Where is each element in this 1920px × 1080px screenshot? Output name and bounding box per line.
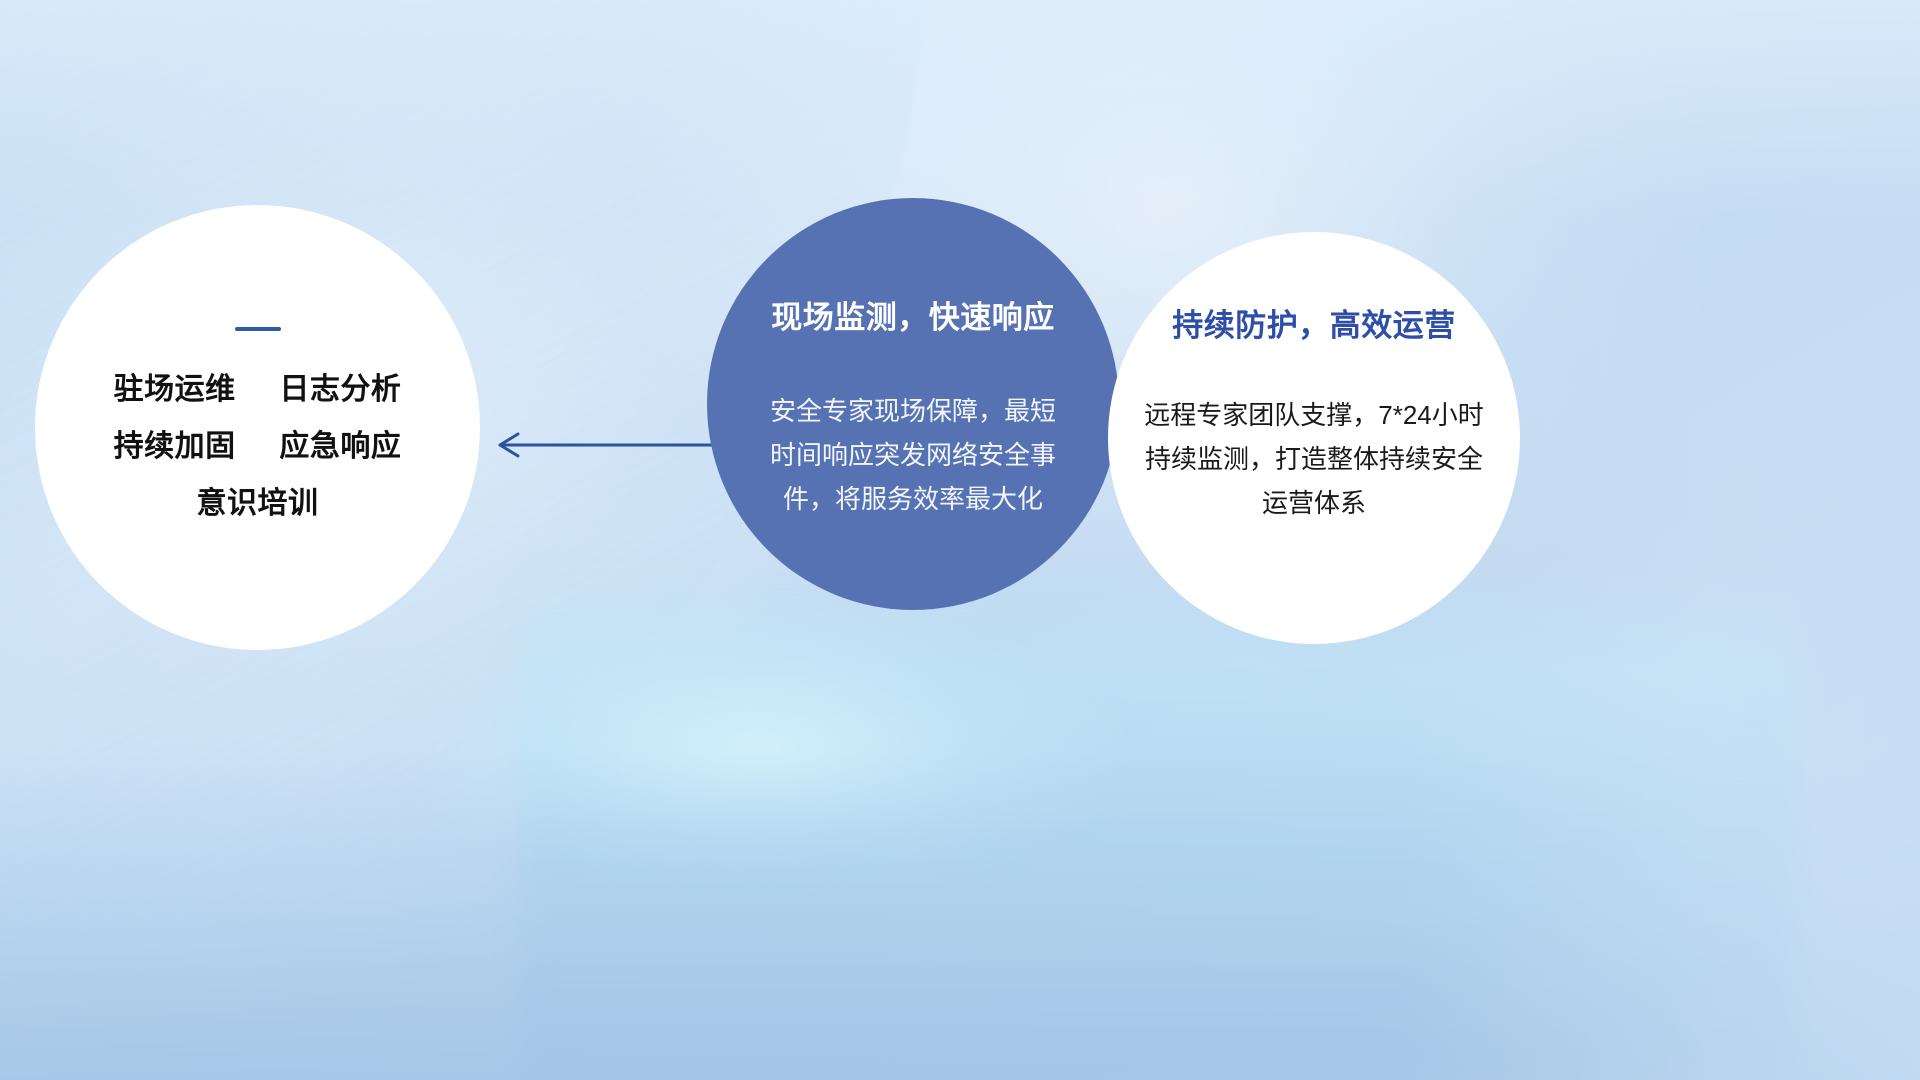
list-item: 持续加固 应急响应 [114, 418, 402, 475]
capability-label: 驻场运维 [114, 373, 236, 406]
capabilities-circle[interactable]: 驻场运维 日志分析 持续加固 应急响应 意识培训 [35, 205, 480, 650]
capability-label: 日志分析 [279, 373, 401, 406]
list-item: 意识培训 [114, 475, 402, 532]
continuous-protection-title: 持续防护，高效运营 [1172, 300, 1456, 345]
continuous-protection-body: 远程专家团队支撑，7*24小时持续监测，打造整体持续安全运营体系 [1138, 393, 1490, 525]
slide-canvas: 驻场运维 日志分析 持续加固 应急响应 意识培训 现场监测，快速响应 安全专家现… [0, 0, 1920, 1080]
capability-label: 持续加固 [114, 430, 236, 463]
capability-label: 意识培训 [197, 487, 319, 520]
onsite-monitoring-circle[interactable]: 现场监测，快速响应 安全专家现场保障，最短时间响应突发网络安全事件，将服务效率最… [707, 198, 1119, 610]
arrow-left-icon [480, 405, 740, 485]
capabilities-list: 驻场运维 日志分析 持续加固 应急响应 意识培训 [114, 361, 402, 532]
onsite-monitoring-title: 现场监测，快速响应 [771, 292, 1055, 337]
background-top-fade [0, 0, 1920, 220]
capability-label: 应急响应 [279, 430, 401, 463]
divider-dash [235, 327, 281, 331]
arrow-left [480, 405, 740, 485]
continuous-protection-circle[interactable]: 持续防护，高效运营 远程专家团队支撑，7*24小时持续监测，打造整体持续安全运营… [1108, 232, 1520, 644]
list-item: 驻场运维 日志分析 [114, 361, 402, 418]
onsite-monitoring-body: 安全专家现场保障，最短时间响应突发网络安全事件，将服务效率最大化 [763, 389, 1063, 521]
